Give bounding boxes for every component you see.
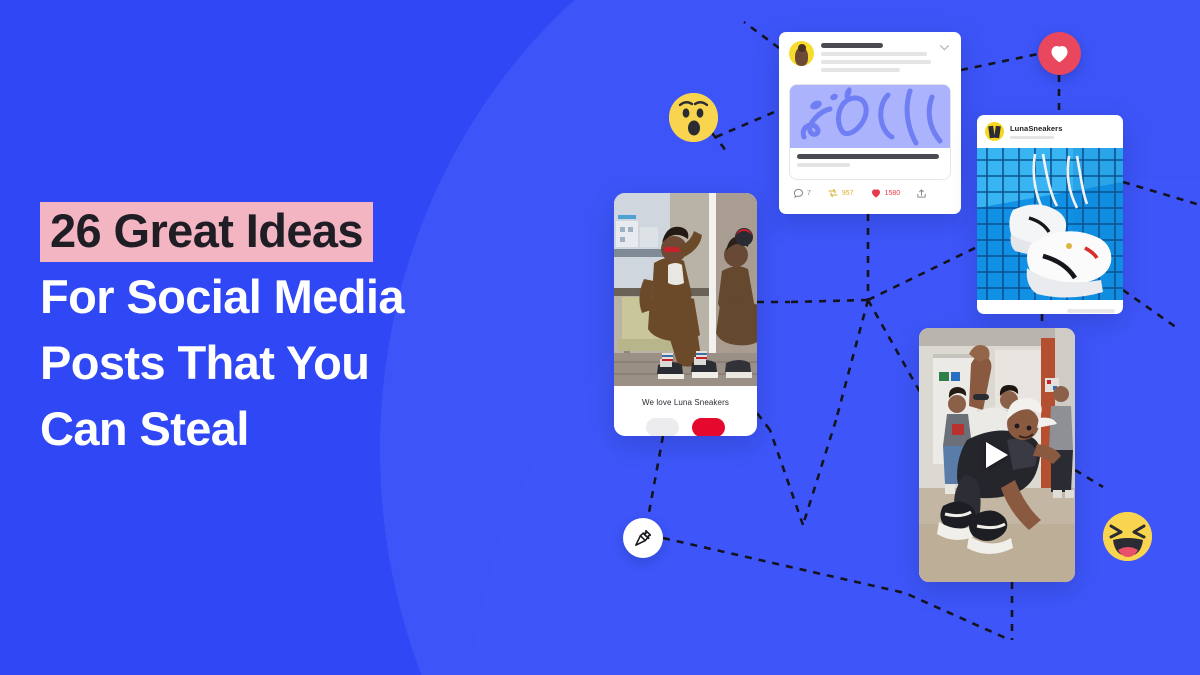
tweet-card-header [789, 41, 951, 76]
headline-line-1: 26 Great Ideas [40, 198, 560, 264]
play-icon[interactable] [986, 442, 1008, 468]
skeleton-line [821, 68, 900, 72]
tweet-skeleton-text [821, 41, 931, 76]
comment-count: 7 [807, 190, 811, 197]
emoji-astonished [669, 93, 718, 142]
skeleton-line [797, 163, 850, 167]
share-action[interactable] [916, 188, 927, 199]
swipe-card-caption: We love Luna Sneakers [614, 386, 757, 407]
headline-line-2: For Social Media [40, 264, 560, 330]
skeleton-line [1010, 136, 1054, 140]
tweet-action-bar: 7 957 1580 [789, 180, 951, 199]
instagram-card-header: LunaSneakers [977, 115, 1123, 148]
skeleton-line [797, 154, 939, 159]
instagram-card-footer [977, 300, 1123, 314]
laughing-face-emoji [1103, 512, 1152, 561]
instagram-username[interactable]: LunaSneakers [1010, 124, 1062, 133]
comment-icon [793, 188, 804, 199]
skeleton-line [1067, 309, 1115, 313]
share-icon [916, 188, 927, 199]
badge-heart[interactable] [1038, 32, 1081, 75]
astonished-face-emoji [669, 93, 718, 142]
emoji-laughing [1103, 512, 1152, 561]
instagram-post-card[interactable]: LunaSneakers [977, 115, 1123, 314]
heart-icon [870, 187, 882, 199]
like-count: 1580 [885, 190, 901, 197]
video-post-card[interactable] [919, 328, 1075, 582]
headline-line-3: Posts That You [40, 330, 560, 396]
swipe-card-buttons [614, 418, 757, 436]
swipe-card[interactable]: We love Luna Sneakers [614, 193, 757, 436]
tweet-card[interactable]: 7 957 1580 [779, 32, 961, 214]
heart-icon [1048, 42, 1071, 65]
like-pill[interactable] [692, 418, 725, 436]
skeleton-line [821, 43, 883, 48]
tweet-link-preview[interactable] [789, 84, 951, 180]
retweet-icon [827, 187, 839, 199]
nope-pill[interactable] [646, 418, 679, 436]
user-avatar [789, 41, 814, 66]
retweet-count: 957 [842, 190, 854, 197]
skeleton-line [821, 52, 927, 56]
skeleton-line [821, 60, 931, 64]
comment-action[interactable]: 7 [793, 188, 811, 199]
pushpin-icon [633, 528, 653, 548]
swipe-card-photo [614, 193, 757, 386]
preview-image [790, 85, 950, 148]
retweet-action[interactable]: 957 [827, 187, 854, 199]
page-title: 26 Great Ideas For Social Media Posts Th… [40, 198, 560, 462]
instagram-photo [977, 148, 1123, 300]
preview-skeleton-text [790, 148, 950, 179]
chevron-down-icon[interactable] [938, 41, 951, 54]
headline-line-4: Can Steal [40, 396, 560, 462]
hero-banner: 26 Great Ideas For Social Media Posts Th… [0, 0, 1200, 675]
sneaker-avatar [985, 122, 1004, 141]
like-action[interactable]: 1580 [870, 187, 901, 199]
badge-pin[interactable] [623, 518, 663, 558]
